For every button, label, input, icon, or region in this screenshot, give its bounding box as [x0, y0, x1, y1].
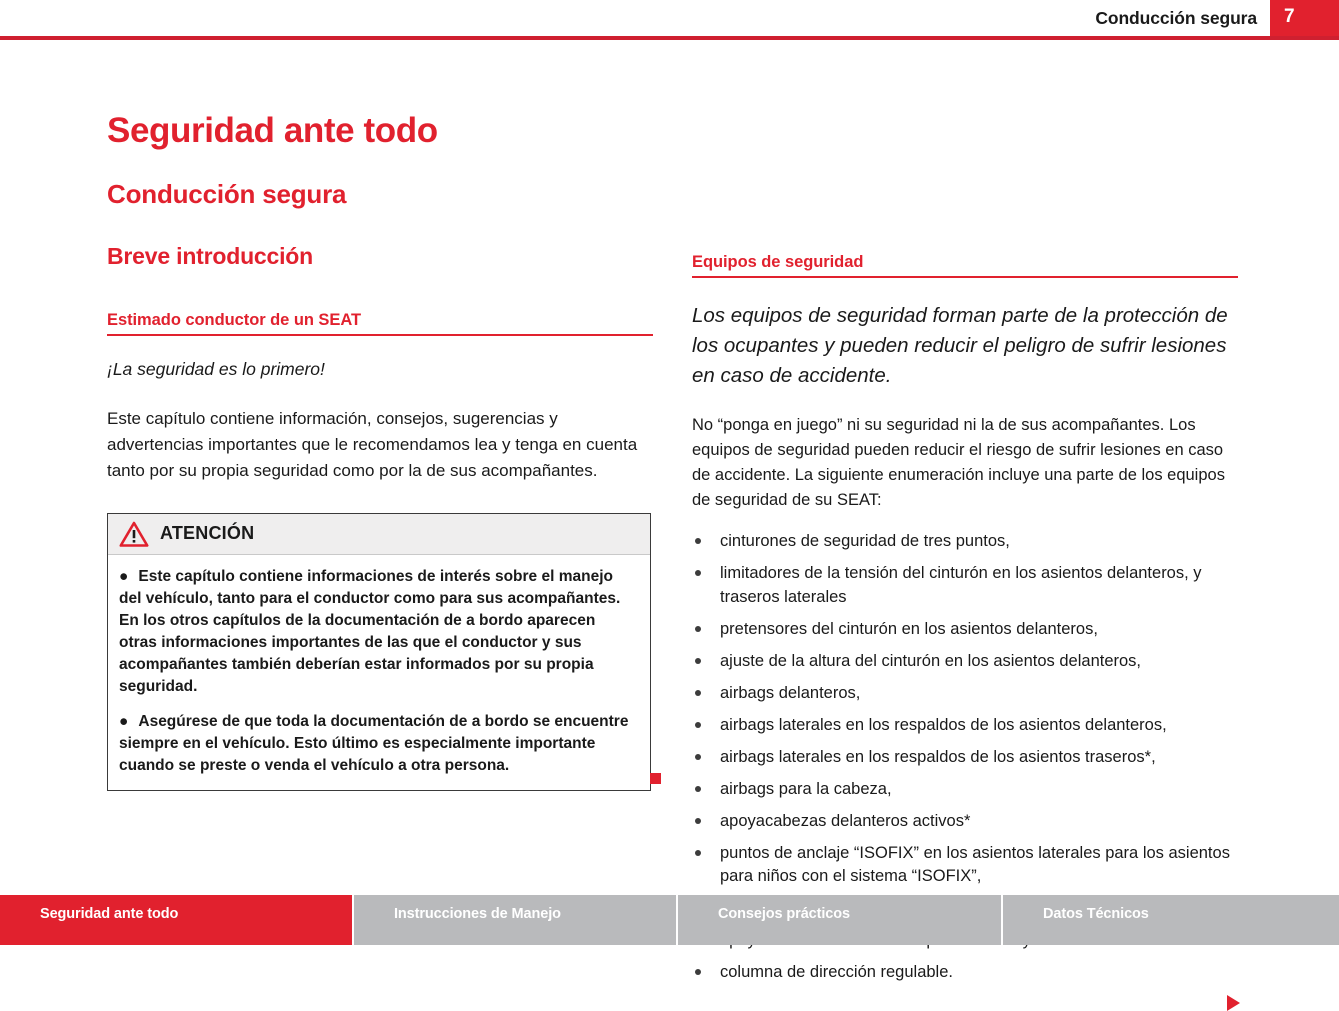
- attention-item: ●Este capítulo contiene informaciones de…: [119, 566, 636, 698]
- list-item-text: airbags delanteros,: [720, 684, 860, 702]
- left-column: Seguridad ante todo Conducción segura Br…: [107, 40, 653, 791]
- list-item: columna de dirección regulable.: [692, 961, 1238, 993]
- bullet-dot-icon: [695, 538, 701, 544]
- list-item: ajuste de la altura del cinturón en los …: [692, 650, 1238, 682]
- left-subheading: Estimado conductor de un SEAT: [107, 311, 653, 336]
- footer-tab-datos[interactable]: Datos Técnicos: [1001, 895, 1339, 945]
- bullet-dot-icon: [695, 690, 701, 696]
- list-item: airbags laterales en los respaldos de lo…: [692, 746, 1238, 778]
- bullet-dot-icon: [695, 658, 701, 664]
- bullet-dot-icon: [695, 754, 701, 760]
- list-item-text: airbags laterales en los respaldos de lo…: [720, 716, 1167, 734]
- left-subheading-wrap: Estimado conductor de un SEAT: [107, 268, 653, 336]
- list-item-text: airbags para la cabeza,: [720, 780, 892, 798]
- right-body-paragraph: No “ponga en juego” ni su seguridad ni l…: [692, 390, 1238, 512]
- attention-item: ●Asegúrese de que toda la documentación …: [119, 698, 636, 777]
- list-item-text: cinturones de seguridad de tres puntos,: [720, 532, 1010, 550]
- bullet-dot-icon: [695, 818, 701, 824]
- subsection-title: Breve introducción: [107, 208, 653, 268]
- bullet-glyph: ●: [119, 713, 128, 730]
- page-content: Seguridad ante todo Conducción segura Br…: [0, 40, 1339, 895]
- bullet-glyph: ●: [119, 568, 128, 585]
- list-item: puntos de anclaje “ISOFIX” en los asient…: [692, 842, 1238, 898]
- list-item-text: puntos de anclaje “ISOFIX” en los asient…: [692, 842, 1238, 890]
- page-number: 7: [1284, 6, 1295, 28]
- list-item: airbags para la cabeza,: [692, 778, 1238, 810]
- list-item: limitadores de la tensión del cinturón e…: [692, 562, 1238, 618]
- header-chapter-title: Conducción segura: [1095, 8, 1257, 29]
- bullet-dot-icon: [695, 722, 701, 728]
- footer-tab-seguridad[interactable]: Seguridad ante todo: [0, 895, 352, 945]
- list-item-text: limitadores de la tensión del cinturón e…: [692, 562, 1238, 610]
- footer-tab-instrucciones[interactable]: Instrucciones de Manejo: [352, 895, 676, 945]
- list-item-text: airbags laterales en los respaldos de lo…: [720, 748, 1156, 766]
- left-body-paragraph: Este capítulo contiene información, cons…: [107, 383, 653, 484]
- list-item-text: columna de dirección regulable.: [720, 963, 953, 981]
- left-lead-text: ¡La seguridad es lo primero!: [107, 336, 653, 382]
- list-item: cinturones de seguridad de tres puntos,: [692, 530, 1238, 562]
- attention-box-label: ATENCIÓN: [160, 523, 254, 544]
- list-item: pretensores del cinturón en los asientos…: [692, 618, 1238, 650]
- continue-arrow-icon: [1227, 995, 1240, 1011]
- list-item: airbags laterales en los respaldos de lo…: [692, 714, 1238, 746]
- right-column: Equipos de seguridad Los equipos de segu…: [692, 40, 1238, 993]
- page-header: Conducción segura 7: [0, 0, 1339, 40]
- list-item-text: apoyacabezas delanteros activos*: [720, 812, 970, 830]
- attention-box-body: ●Este capítulo contiene informaciones de…: [108, 555, 650, 790]
- bullet-dot-icon: [695, 850, 701, 856]
- list-item-text: ajuste de la altura del cinturón en los …: [720, 652, 1141, 670]
- right-lead-text: Los equipos de seguridad forman parte de…: [692, 278, 1238, 390]
- bullet-dot-icon: [695, 786, 701, 792]
- attention-box-header: ATENCIÓN: [108, 514, 650, 555]
- attention-item-text: Este capítulo contiene informaciones de …: [119, 568, 620, 695]
- footer-tab-consejos[interactable]: Consejos prácticos: [676, 895, 1001, 945]
- page-number-block: 7: [1270, 0, 1339, 36]
- bullet-dot-icon: [695, 969, 701, 975]
- right-subheading: Equipos de seguridad: [692, 253, 1238, 278]
- red-square-marker-icon: [650, 773, 661, 784]
- list-item: airbags delanteros,: [692, 682, 1238, 714]
- list-item: apoyacabezas delanteros activos*: [692, 810, 1238, 842]
- bullet-dot-icon: [695, 626, 701, 632]
- warning-triangle-icon: [119, 521, 149, 547]
- attention-box: ATENCIÓN ●Este capítulo contiene informa…: [107, 513, 651, 791]
- right-subheading-wrap: Equipos de seguridad: [692, 40, 1238, 278]
- page-title: Seguridad ante todo: [107, 40, 653, 150]
- list-item-text: pretensores del cinturón en los asientos…: [720, 620, 1098, 638]
- section-title: Conducción segura: [107, 150, 653, 208]
- footer-navigation: Seguridad ante todo Instrucciones de Man…: [0, 895, 1339, 945]
- attention-item-text: Asegúrese de que toda la documentación d…: [119, 713, 628, 774]
